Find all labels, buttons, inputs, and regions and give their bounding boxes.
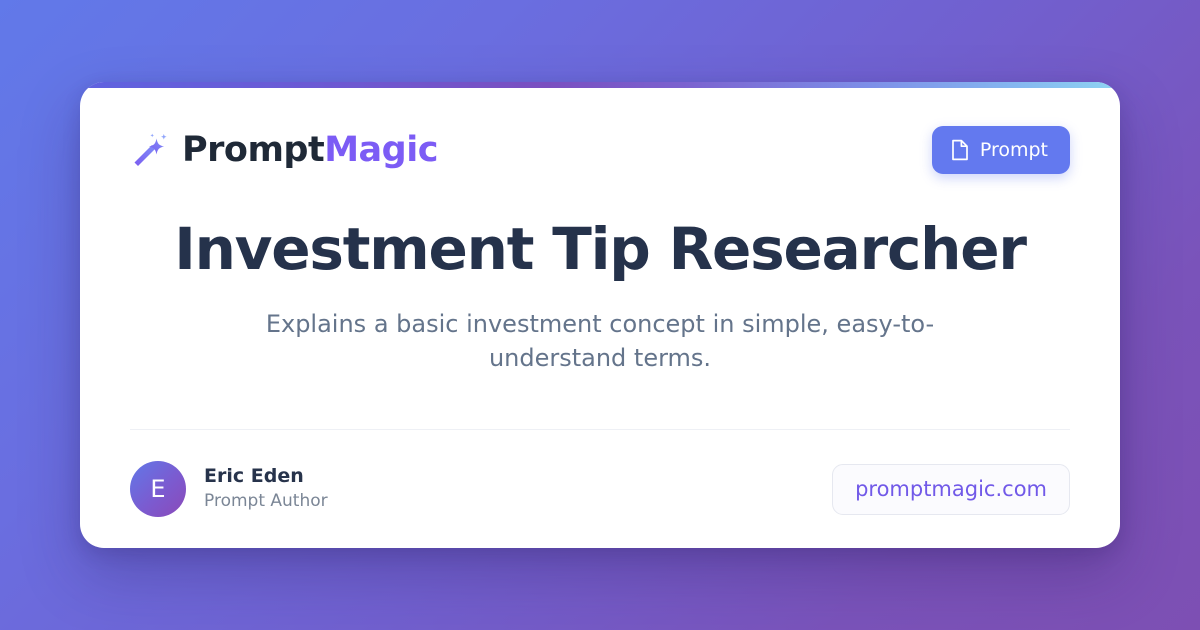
card-main-content: Investment Tip Researcher Explains a bas…: [130, 174, 1070, 429]
magic-wand-icon: [130, 131, 168, 169]
card-accent-bar: [80, 82, 1120, 88]
og-preview-card: PromptMagic Prompt Investment Tip Resear…: [80, 82, 1120, 548]
brand-logo[interactable]: PromptMagic: [130, 131, 438, 169]
avatar: E: [130, 461, 186, 517]
author-name: Eric Eden: [204, 466, 328, 488]
prompt-button-label: Prompt: [980, 141, 1048, 160]
page-subtitle: Explains a basic investment concept in s…: [220, 307, 980, 375]
document-icon: [950, 139, 970, 161]
card-footer: E Eric Eden Prompt Author promptmagic.co…: [130, 430, 1070, 548]
page-title: Investment Tip Researcher: [174, 218, 1026, 281]
site-url-badge[interactable]: promptmagic.com: [832, 464, 1070, 515]
card-header: PromptMagic Prompt: [130, 82, 1070, 174]
brand-word-magic: Magic: [324, 130, 438, 170]
brand-wordmark: PromptMagic: [182, 133, 438, 168]
author-meta: Eric Eden Prompt Author: [204, 466, 328, 511]
brand-word-prompt: Prompt: [182, 130, 324, 170]
author-role: Prompt Author: [204, 492, 328, 512]
prompt-button[interactable]: Prompt: [932, 126, 1070, 174]
author-block: E Eric Eden Prompt Author: [130, 461, 328, 517]
